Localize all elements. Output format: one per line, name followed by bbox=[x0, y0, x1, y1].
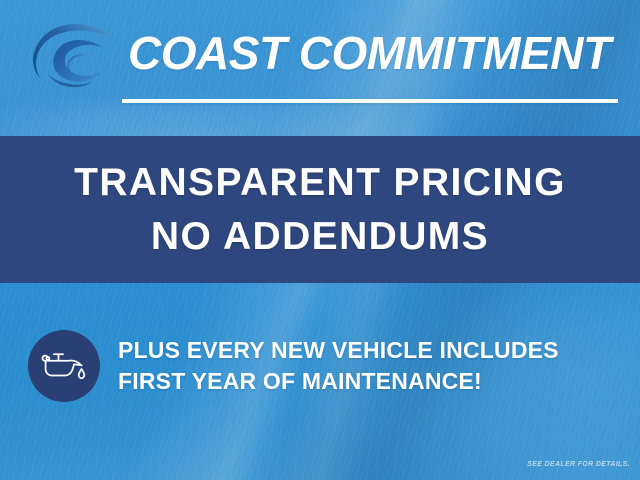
oil-can-badge bbox=[28, 330, 100, 402]
header-divider bbox=[122, 99, 618, 103]
headline-band: TRANSPARENT PRICING NO ADDENDUMS bbox=[0, 136, 640, 283]
coast-wave-logo-icon bbox=[24, 18, 116, 92]
headline-line-2: NO ADDENDUMS bbox=[151, 210, 489, 264]
disclaimer-text: SEE DEALER FOR DETAILS. bbox=[527, 461, 630, 468]
promo-line-1: PLUS EVERY NEW VEHICLE INCLUDES bbox=[118, 335, 559, 366]
promo-text: PLUS EVERY NEW VEHICLE INCLUDES FIRST YE… bbox=[118, 335, 559, 397]
promo-line-2: FIRST YEAR OF MAINTENANCE! bbox=[118, 366, 559, 397]
oil-can-icon bbox=[40, 346, 88, 386]
headline-line-1: TRANSPARENT PRICING bbox=[74, 156, 566, 210]
banner-header: COAST COMMITMENT bbox=[0, 0, 640, 136]
promo-section: PLUS EVERY NEW VEHICLE INCLUDES FIRST YE… bbox=[0, 318, 640, 414]
coast-commitment-banner: COAST COMMITMENT TRANSPARENT PRICING NO … bbox=[0, 0, 640, 480]
page-title: COAST COMMITMENT bbox=[128, 22, 611, 84]
